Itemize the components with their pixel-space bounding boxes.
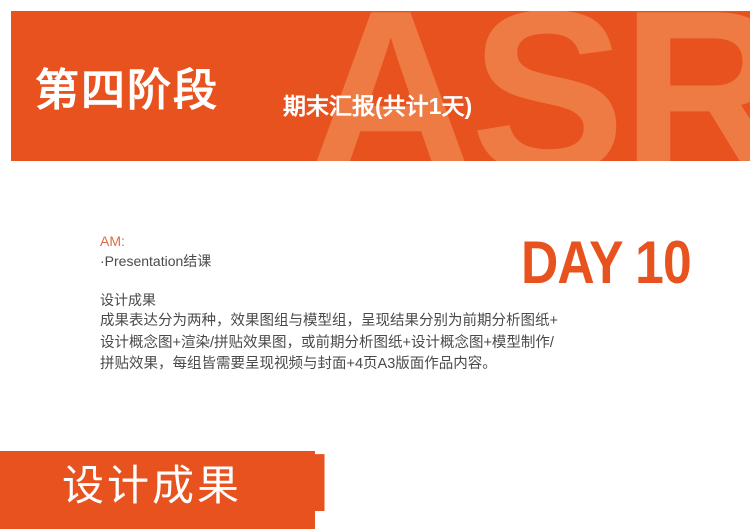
footer-title: 设计成果 — [62, 456, 242, 516]
am-label: AM: — [100, 231, 660, 251]
header-banner: ASRI 第四阶段 期末汇报(共计1天) — [11, 11, 750, 161]
page-title: 第四阶段 — [35, 67, 219, 115]
asri-watermark-text: ASRI — [307, 11, 750, 161]
page-subtitle: 期末汇报(共计1天) — [283, 93, 472, 119]
paragraph-line-0: 成果表达分为两种，效果图组与模型组，呈现结果分别为前期分析图纸+ — [100, 311, 660, 333]
content-block: AM: ·Presentation结课 设计成果 成果表达分为两种，效果图组与模… — [100, 231, 660, 376]
slide-page: ASRI 第四阶段 期末汇报(共计1天) DAY 10 AM: ·Present… — [0, 0, 750, 529]
paragraph-line-1: 设计概念图+渲染/拼贴效果图，或前期分析图纸+设计概念图+模型制作/ — [100, 333, 660, 355]
paragraph-line-2: 拼贴效果，每组皆需要呈现视频与封面+4页A3版面作品内容。 — [100, 354, 660, 376]
am-item-0: ·Presentation结课 — [100, 251, 660, 271]
content-spacer — [100, 271, 660, 290]
ri-watermark-text: RI — [249, 437, 328, 529]
section-title: 设计成果 — [100, 290, 660, 311]
